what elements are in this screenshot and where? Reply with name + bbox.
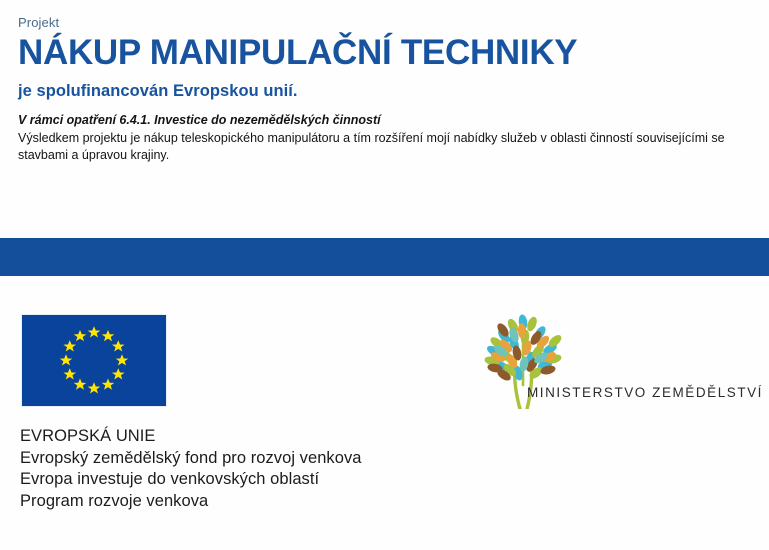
legend-line-program: Program rozvoje venkova	[20, 491, 361, 513]
blue-divider-band	[0, 238, 769, 276]
project-description: Výsledkem projektu je nákup teleskopické…	[18, 130, 740, 163]
legend-line-investment: Evropa investuje do venkovských oblastí	[20, 469, 361, 491]
project-header: Projekt NÁKUP MANIPULAČNÍ TECHNIKY je sp…	[18, 14, 749, 163]
european-union-flag	[21, 314, 167, 407]
ministry-wordmark: MINISTERSTVO ZEMĚDĚLSTVÍ	[527, 385, 763, 400]
page-title: NÁKUP MANIPULAČNÍ TECHNIKY	[18, 33, 749, 73]
eu-funding-legend: EVROPSKÁ UNIE Evropský zemědělský fond p…	[20, 426, 361, 512]
ministry-of-agriculture-logo: MINISTERSTVO ZEMĚDĚLSTVÍ	[470, 313, 720, 409]
measure-line: V rámci opatření 6.4.1. Investice do nez…	[18, 111, 749, 129]
project-eyebrow-label: Projekt	[18, 14, 749, 31]
legend-line-fund: Evropský zemědělský fond pro rozvoj venk…	[20, 448, 361, 470]
cofinancing-subtitle: je spolufinancován Evropskou unií.	[18, 80, 749, 102]
legend-line-eu: EVROPSKÁ UNIE	[20, 426, 361, 448]
